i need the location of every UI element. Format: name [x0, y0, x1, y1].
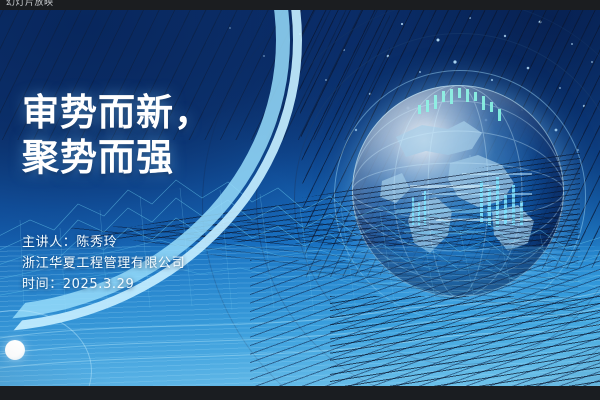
window-bottom-bar — [0, 386, 600, 400]
slide-meta: 主讲人：陈秀玲 浙江华夏工程管理有限公司 时间：2025.3.29 — [22, 232, 185, 295]
line-bundle-bottom-dark — [330, 296, 600, 386]
meta-company: 浙江华夏工程管理有限公司 — [22, 253, 185, 274]
corner-dot-graphic — [5, 340, 25, 360]
slide-title: 审势而新， 聚势而强 — [22, 90, 212, 180]
window-top-bar: 幻灯片放映 — [0, 0, 600, 10]
title-line-2: 聚势而强 — [22, 135, 212, 180]
slide-canvas: 审势而新， 聚势而强 主讲人：陈秀玲 浙江华夏工程管理有限公司 时间：2025.… — [0, 10, 600, 386]
meta-presenter: 主讲人：陈秀玲 — [22, 232, 185, 253]
presentation-slide-window: 幻灯片放映 — [0, 0, 600, 400]
title-line-1: 审势而新， — [22, 90, 212, 135]
meta-date: 时间：2025.3.29 — [22, 274, 185, 295]
top-bar-label: 幻灯片放映 — [6, 0, 54, 8]
